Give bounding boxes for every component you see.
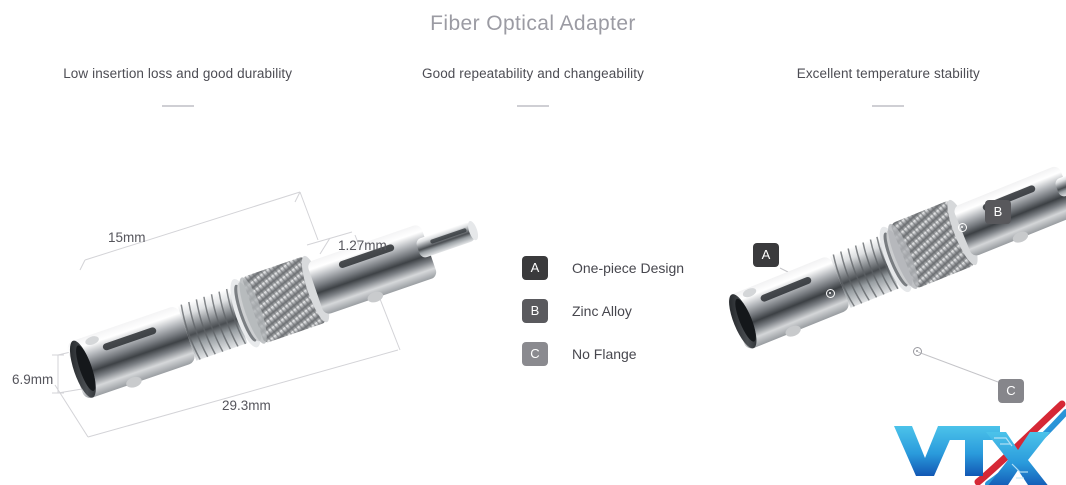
feature-item-2: Excellent temperature stability <box>711 66 1066 107</box>
feature-item-1: Good repeatability and changeability <box>355 66 710 107</box>
dimension-label-1-27mm: 1.27mm <box>338 238 387 253</box>
callout-badge-a: A <box>753 243 779 267</box>
feature-list: Low insertion loss and good durability G… <box>0 66 1066 107</box>
legend-badge-a: A <box>522 256 548 280</box>
dimension-label-15mm: 15mm <box>108 230 146 245</box>
legend: A One-piece Design B Zinc Alloy C No Fla… <box>522 246 722 375</box>
legend-label-a: One-piece Design <box>572 260 684 276</box>
legend-label-c: No Flange <box>572 346 637 362</box>
feature-divider <box>162 105 194 107</box>
legend-item-b: B Zinc Alloy <box>522 289 722 332</box>
callout-photo: A B C <box>700 150 1066 440</box>
legend-item-c: C No Flange <box>522 332 722 375</box>
feature-divider <box>872 105 904 107</box>
feature-label: Good repeatability and changeability <box>355 66 710 81</box>
product-spec-page: Fiber Optical Adapter Low insertion loss… <box>0 0 1066 485</box>
legend-badge-c: C <box>522 342 548 366</box>
callout-marker-b <box>958 223 967 232</box>
legend-label-b: Zinc Alloy <box>572 303 632 319</box>
feature-label: Low insertion loss and good durability <box>0 66 355 81</box>
callout-badge-b: B <box>985 200 1011 224</box>
legend-badge-b: B <box>522 299 548 323</box>
vtx-logo <box>882 398 1066 485</box>
feature-label: Excellent temperature stability <box>711 66 1066 81</box>
callout-marker-a <box>826 289 835 298</box>
feature-item-0: Low insertion loss and good durability <box>0 66 355 107</box>
page-title: Fiber Optical Adapter <box>0 12 1066 36</box>
callout-marker-c <box>913 347 922 356</box>
feature-divider <box>517 105 549 107</box>
dimension-label-29-3mm: 29.3mm <box>222 398 271 413</box>
vtx-logo-svg <box>882 398 1066 485</box>
legend-item-a: A One-piece Design <box>522 246 722 289</box>
dimension-drawing: 15mm 1.27mm 6.9mm 29.3mm <box>0 150 500 450</box>
dimension-label-6-9mm: 6.9mm <box>12 372 53 387</box>
